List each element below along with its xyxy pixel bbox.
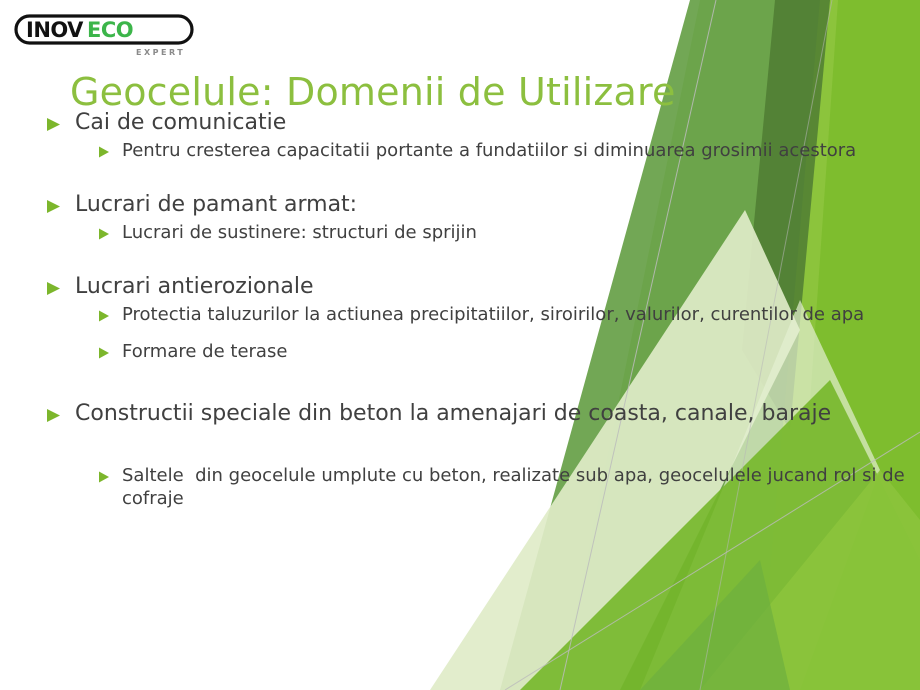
bullet-level2: Protectia taluzurilor la actiunea precip… [98,303,912,326]
bullet-text: Constructii speciale din beton la amenaj… [75,399,831,428]
spacer [46,246,912,272]
bullet-text: Lucrari antierozionale [75,272,314,301]
triangle-bullet-icon [46,117,61,132]
bullet-text: Formare de terase [122,340,287,363]
triangle-bullet-icon [98,228,110,240]
spacer [46,430,912,464]
bullet-level1: Cai de comunicatie [46,108,912,137]
bullet-level2: Lucrari de sustinere: structuri de sprij… [98,221,912,244]
bullet-text: Lucrari de sustinere: structuri de sprij… [122,221,477,244]
spacer [46,164,912,190]
bullet-text: Cai de comunicatie [75,108,286,137]
triangle-bullet-icon [46,199,61,214]
bullet-text: Pentru cresterea capacitatii portante a … [122,139,856,162]
spacer [46,365,912,399]
logo-text-dark: INOV [26,18,84,42]
triangle-bullet-icon [98,471,110,483]
bullet-text: Protectia taluzurilor la actiunea precip… [122,303,864,326]
bullet-level1: Constructii speciale din beton la amenaj… [46,399,912,428]
bullet-level2: Formare de terase [98,340,912,363]
bullet-level1: Lucrari de pamant armat: [46,190,912,219]
bullet-text: Saltele din geocelule umplute cu beton, … [122,464,912,510]
presentation-slide: INOV ECO EXPERT Geocelule: Domenii de Ut… [0,0,920,690]
bullet-level1: Lucrari antierozionale [46,272,912,301]
spacer [46,328,912,340]
triangle-bullet-icon [98,310,110,322]
slide-body: Cai de comunicatie Pentru cresterea capa… [46,108,912,512]
triangle-bullet-icon [98,347,110,359]
triangle-bullet-icon [46,408,61,423]
logo-subtext: EXPERT [136,48,185,57]
company-logo: INOV ECO EXPERT [14,13,194,59]
triangle-bullet-icon [98,146,110,158]
bullet-level2: Saltele din geocelule umplute cu beton, … [98,464,912,510]
bullet-text: Lucrari de pamant armat: [75,190,357,219]
triangle-bullet-icon [46,281,61,296]
bullet-level2: Pentru cresterea capacitatii portante a … [98,139,912,162]
logo-text-green: ECO [87,18,133,42]
